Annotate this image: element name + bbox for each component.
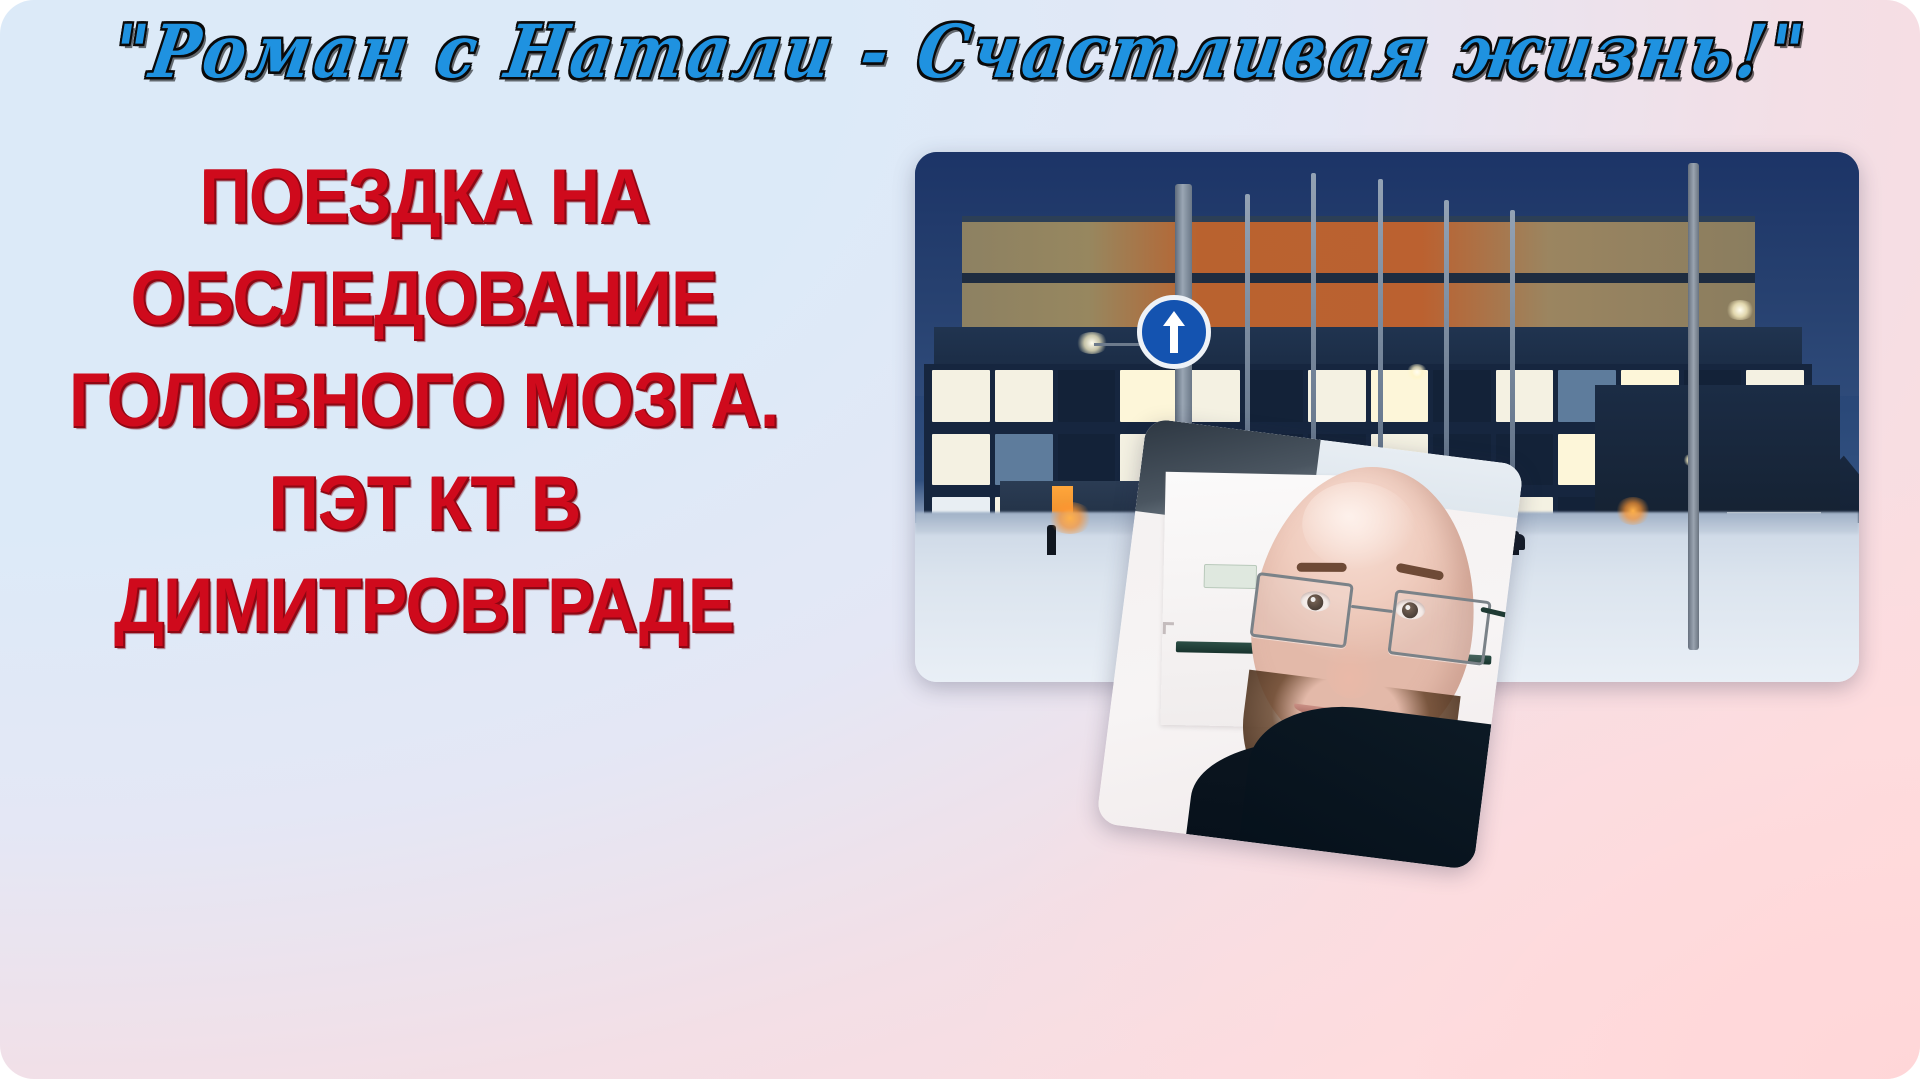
street-lamp-glow [1406,364,1428,380]
headline-line-5: ДИМИТРОВГРАДЕ [114,559,734,653]
thumbnail-canvas: "Роман с Натали - Счастливая жизнь!" ПОЕ… [0,0,1920,1079]
window [1245,370,1303,422]
window [1058,434,1116,486]
headline-line-3: ГОЛОВНОГО МОЗГА. [69,354,779,448]
window [1308,370,1366,422]
headline-line-4: ПЭТ КТ В [268,457,580,551]
lens-left [1250,572,1354,649]
street-pole [1688,163,1699,651]
window [932,434,990,486]
lens-right [1388,589,1492,666]
wall-hook [1163,622,1175,634]
selfie-portrait-photo [1096,418,1524,870]
headline-line-1: ПОЕЗДКА НА [199,150,648,244]
window [995,370,1053,422]
facade-stripe [962,273,1755,283]
window [1496,370,1554,422]
window [1058,370,1116,422]
warm-entrance-glow [1615,497,1651,525]
window [995,434,1053,486]
window [932,370,990,422]
flagpole [1444,200,1449,486]
glasses-bridge [1351,604,1393,612]
flagpole [1378,179,1383,486]
flagpole [1510,210,1515,486]
building-photo-caption: Современное медицинское здание вечером, … [0,0,1,1]
window [1433,370,1491,422]
wall-label-tag [1204,564,1258,590]
portrait-content [1096,418,1524,870]
portrait-photo-caption: Селфи мужчины в очках и чёрной водолазке… [0,0,1,1]
headline-block: ПОЕЗДКА НА ОБСЛЕДОВАНИЕ ГОЛОВНОГО МОЗГА.… [74,150,774,653]
window [1120,370,1178,422]
warm-entrance-glow [1047,502,1093,534]
road-sign-straight-ahead-icon [1137,295,1211,369]
channel-title: "Роман с Натали - Счастливая жизнь!" [107,9,1813,95]
building-upper-facade [962,216,1755,343]
title-bar: "Роман с Натали - Счастливая жизнь!" [0,2,1920,102]
headline-line-2: ОБСЛЕДОВАНИЕ [131,252,717,346]
eyebrow-left [1297,563,1347,572]
